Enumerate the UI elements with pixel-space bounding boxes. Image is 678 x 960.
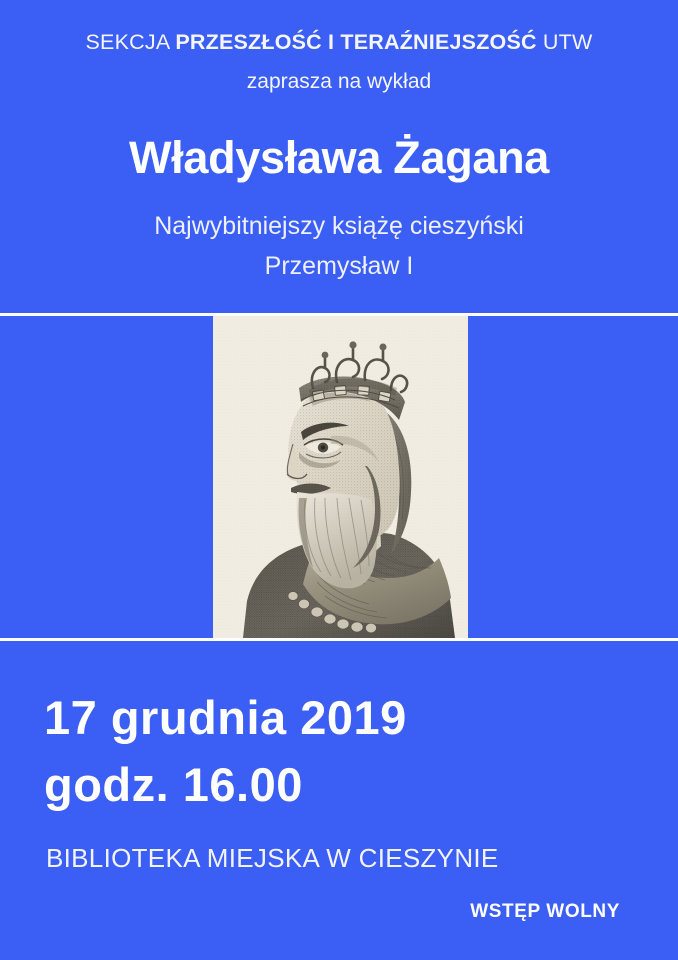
- subject-line-2: Przemysław I: [0, 252, 678, 281]
- organizer-emphasis: PRZESZŁOŚĆ I TERAŹNIEJSZOŚĆ: [175, 30, 536, 54]
- prince-portrait-illustration: [213, 316, 468, 638]
- subject-line-1: Najwybitniejszy książę cieszyński: [0, 212, 678, 241]
- organizer-prefix: SEKCJA: [86, 30, 176, 54]
- portrait-panel: [213, 316, 468, 638]
- event-date: 17 grudnia 2019: [44, 690, 407, 745]
- invitation-line: zaprasza na wykład: [0, 70, 678, 94]
- event-time: godz. 16.00: [44, 757, 303, 812]
- organizer-line: SEKCJA PRZESZŁOŚĆ I TERAŹNIEJSZOŚĆ UTW: [0, 30, 678, 55]
- speaker-name: Władysława Żagana: [0, 132, 678, 184]
- admission-note: WSTĘP WOLNY: [470, 901, 620, 923]
- event-poster: SEKCJA PRZESZŁOŚĆ I TERAŹNIEJSZOŚĆ UTW z…: [0, 0, 678, 960]
- event-venue: BIBLIOTEKA MIEJSKA W CIESZYNIE: [46, 843, 499, 874]
- organizer-suffix: UTW: [537, 30, 593, 54]
